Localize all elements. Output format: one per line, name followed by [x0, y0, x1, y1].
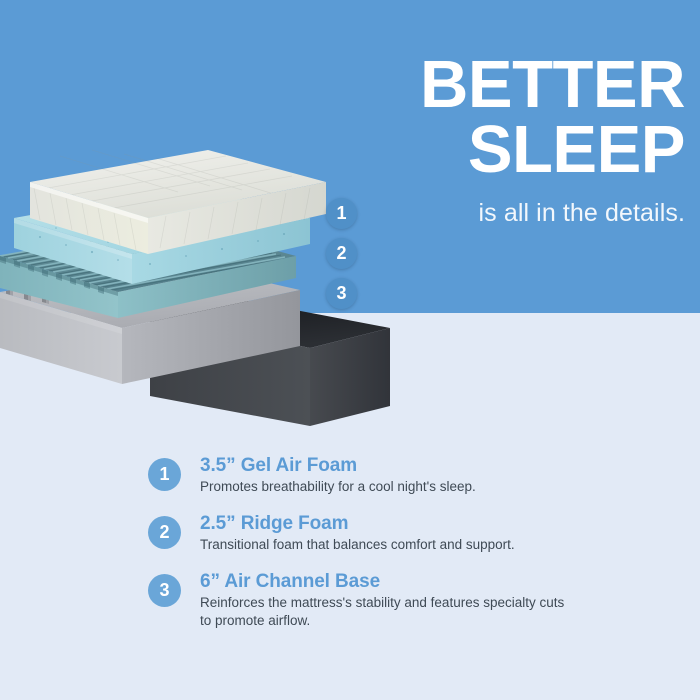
legend-desc-2: Transitional foam that balances comfort … [200, 536, 572, 554]
legend-desc-3: Reinforces the mattress's stability and … [200, 594, 572, 630]
list-item: 1 3.5” Gel Air Foam Promotes breathabili… [148, 455, 578, 505]
headline-line-1: BETTER [420, 47, 685, 122]
mattress-layer-cutaway [0, 96, 400, 446]
callout-badge-1[interactable]: 1 [326, 198, 357, 229]
legend-title-2: 2.5” Ridge Foam [200, 513, 578, 535]
list-item: 2 2.5” Ridge Foam Transitional foam that… [148, 513, 578, 563]
legend-desc-1: Promotes breathability for a cool night'… [200, 478, 572, 496]
infographic-canvas: BETTER SLEEP is all in the details. [0, 0, 700, 700]
legend-title-3: 6” Air Channel Base [200, 571, 578, 593]
legend-number-2: 2 [148, 516, 181, 549]
callout-badge-2[interactable]: 2 [326, 238, 357, 269]
legend-number-3: 3 [148, 574, 181, 607]
legend-number-1: 1 [148, 458, 181, 491]
legend-title-1: 3.5” Gel Air Foam [200, 455, 578, 477]
list-item: 3 6” Air Channel Base Reinforces the mat… [148, 571, 578, 629]
feature-legend: 1 3.5” Gel Air Foam Promotes breathabili… [148, 455, 578, 637]
callout-badge-3[interactable]: 3 [326, 278, 357, 309]
